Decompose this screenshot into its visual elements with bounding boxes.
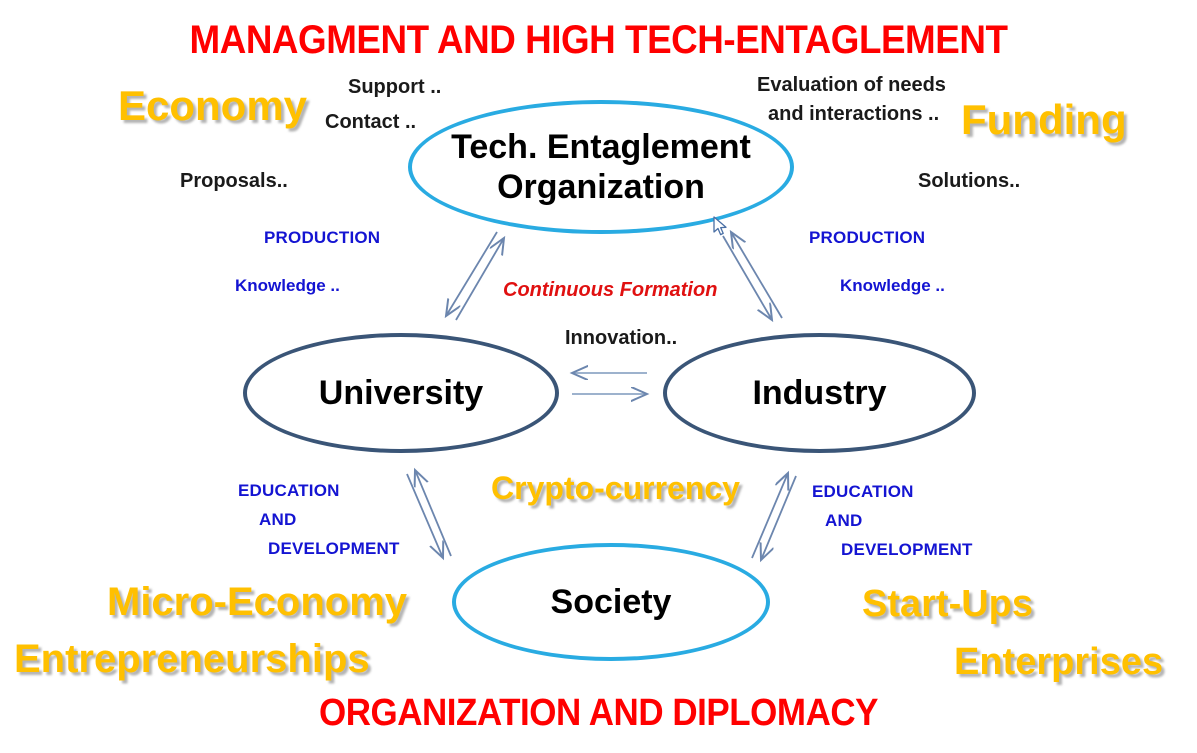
node-organization-line1: Tech. Entaglement — [451, 127, 751, 167]
node-industry-label: Industry — [752, 373, 886, 413]
arrow-org-industry — [723, 232, 782, 320]
label-right-production: PRODUCTION — [809, 223, 925, 253]
label-right-development: DEVELOPMENT — [841, 535, 973, 565]
node-organization[interactable]: Tech. Entaglement Organization — [408, 100, 794, 234]
label-economy: Economy — [118, 82, 307, 130]
label-solutions: Solutions.. — [918, 170, 1020, 193]
arrow-industry-society — [752, 473, 796, 560]
label-entrepreneurships: Entrepreneurships — [14, 637, 370, 682]
mouse-cursor — [713, 216, 729, 238]
node-society-label: Society — [551, 582, 672, 622]
arrow-university-society — [407, 470, 451, 558]
page-footer-title: ORGANIZATION AND DIPLOMACY — [48, 692, 1149, 735]
label-micro-economy: Micro-Economy — [107, 580, 407, 625]
label-funding: Funding — [961, 96, 1127, 144]
label-right-and: AND — [825, 506, 862, 536]
page-title: MANAGMENT AND HIGH TECH-ENTAGLEMENT — [48, 18, 1149, 63]
label-support: Support .. — [348, 76, 441, 99]
label-left-and: AND — [259, 505, 296, 535]
label-right-education: EDUCATION — [812, 477, 914, 507]
label-left-production: PRODUCTION — [264, 223, 380, 253]
label-evaluation-line2: and interactions .. — [768, 103, 939, 126]
label-crypto-currency: Crypto-currency — [491, 470, 740, 507]
label-proposals: Proposals.. — [180, 170, 288, 193]
arrow-org-university — [446, 232, 504, 320]
node-society[interactable]: Society — [452, 543, 770, 661]
label-left-knowledge: Knowledge .. — [235, 271, 340, 301]
label-left-education: EDUCATION — [238, 476, 340, 506]
label-enterprises: Enterprises — [954, 641, 1163, 684]
label-innovation: Innovation.. — [565, 327, 677, 350]
node-organization-line2: Organization — [451, 167, 751, 207]
label-right-knowledge: Knowledge .. — [840, 271, 945, 301]
arrow-university-industry — [572, 373, 647, 394]
label-evaluation-line1: Evaluation of needs — [757, 74, 946, 97]
node-university-label: University — [319, 373, 483, 413]
label-start-ups: Start-Ups — [862, 583, 1033, 626]
label-contact: Contact .. — [325, 111, 416, 134]
node-university[interactable]: University — [243, 333, 559, 453]
label-continuous-formation: Continuous Formation — [503, 279, 717, 302]
label-left-development: DEVELOPMENT — [268, 534, 400, 564]
diagram-canvas: MANAGMENT AND HIGH TECH-ENTAGLEMENT Econ… — [0, 0, 1197, 753]
node-industry[interactable]: Industry — [663, 333, 976, 453]
